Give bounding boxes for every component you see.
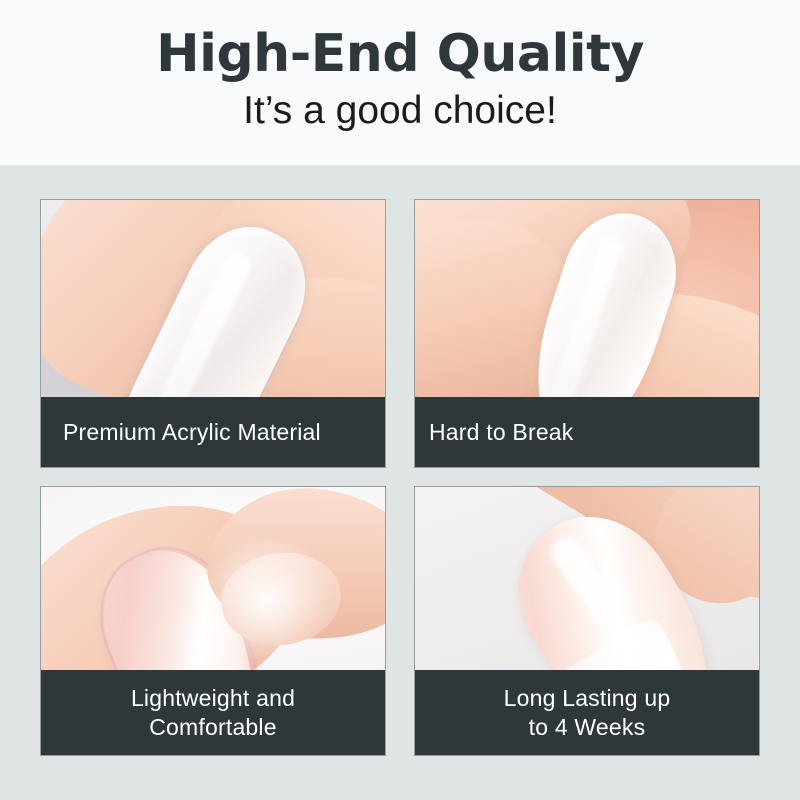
feature-photo-long-lasting-up-to-4-weeks [415, 487, 759, 670]
feature-caption-hard-to-break: Hard to Break [415, 397, 759, 467]
page-header: High-End Quality It’s a good choice! [0, 0, 800, 165]
caption-text: Hard to Break [429, 419, 745, 446]
caption-line-1: Long Lasting up [504, 685, 671, 711]
feature-card-premium-acrylic-material[interactable]: Premium Acrylic Material [41, 200, 385, 467]
feature-photo-hard-to-break [415, 200, 759, 397]
caption-line-2: Comfortable [149, 714, 276, 740]
product-feature-page: High-End Quality It’s a good choice! Pre… [0, 0, 800, 800]
feature-caption-long-lasting-up-to-4-weeks: Long Lasting up to 4 Weeks [415, 670, 759, 755]
feature-caption-lightweight-and-comfortable: Lightweight and Comfortable [41, 670, 385, 755]
photo-highlight [191, 539, 341, 659]
feature-photo-premium-acrylic-material [41, 200, 385, 397]
page-subtitle: It’s a good choice! [243, 90, 557, 133]
caption-line-1: Lightweight and [131, 685, 295, 711]
feature-card-long-lasting-up-to-4-weeks[interactable]: Long Lasting up to 4 Weeks [415, 487, 759, 755]
feature-photo-lightweight-and-comfortable [41, 487, 385, 670]
caption-text: Premium Acrylic Material [63, 419, 363, 446]
feature-caption-premium-acrylic-material: Premium Acrylic Material [41, 397, 385, 467]
page-title: High-End Quality [156, 26, 644, 82]
feature-card-grid: Premium Acrylic Material Hard to Break [41, 200, 759, 755]
feature-card-hard-to-break[interactable]: Hard to Break [415, 200, 759, 467]
caption-line-2: to 4 Weeks [529, 714, 646, 740]
feature-card-lightweight-and-comfortable[interactable]: Lightweight and Comfortable [41, 487, 385, 755]
